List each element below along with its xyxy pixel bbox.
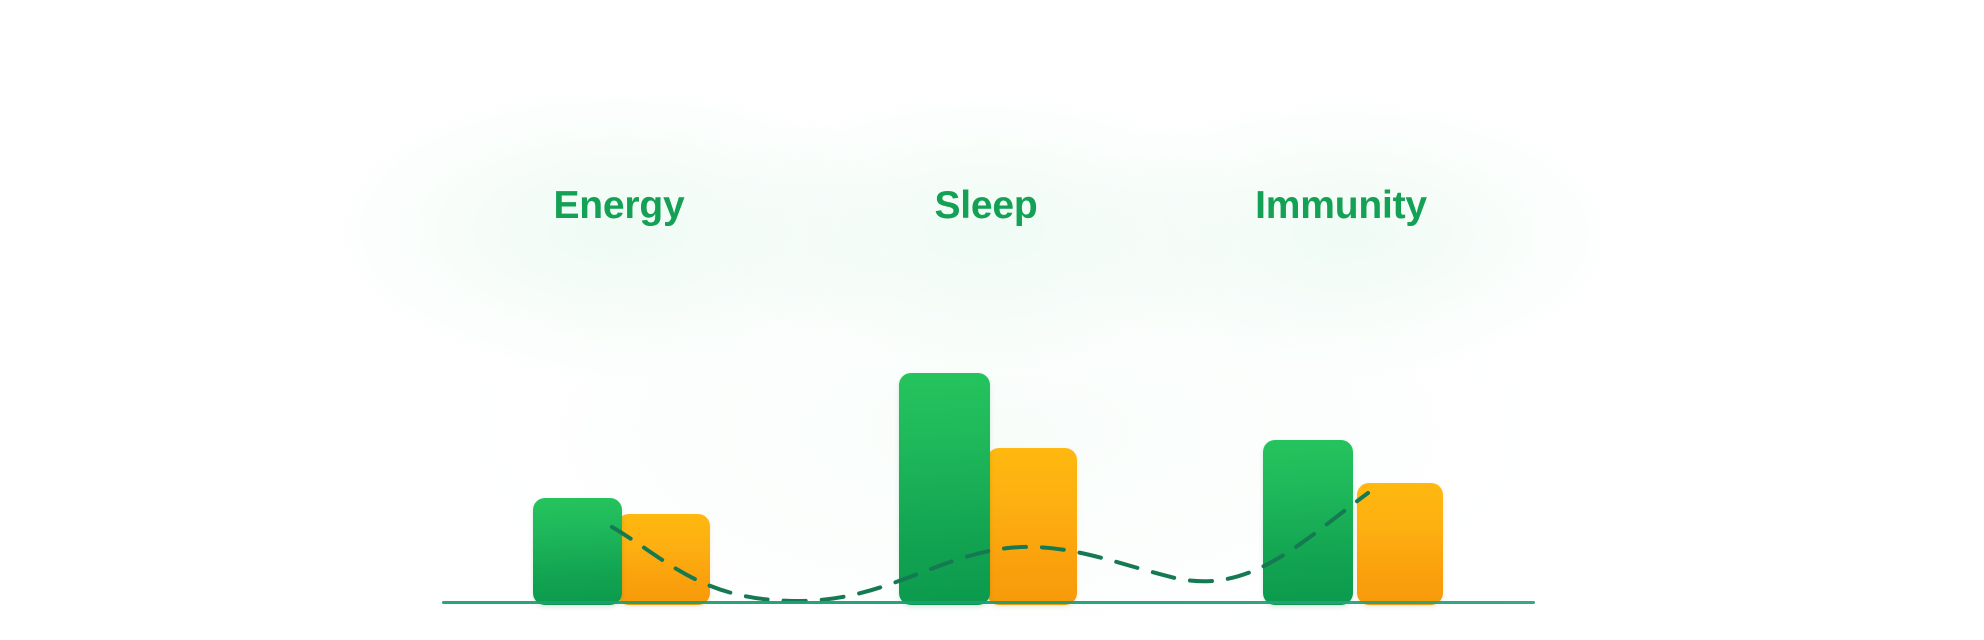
bar-sleep-orange[interactable] — [987, 448, 1077, 605]
bar-sleep-green[interactable] — [899, 373, 990, 605]
category-label-sleep: Sleep — [934, 186, 1037, 225]
baseline-axis — [442, 601, 1535, 604]
chart-canvas: Energy Sleep Immunity — [0, 0, 1984, 640]
plot-area: Energy Sleep Immunity — [0, 0, 1984, 640]
bar-immunity-orange[interactable] — [1357, 483, 1443, 605]
bar-immunity-green[interactable] — [1263, 440, 1353, 605]
category-label-immunity: Immunity — [1255, 186, 1427, 225]
category-label-energy: Energy — [553, 186, 684, 225]
bar-energy-green[interactable] — [533, 498, 622, 605]
bar-energy-orange[interactable] — [617, 514, 710, 605]
